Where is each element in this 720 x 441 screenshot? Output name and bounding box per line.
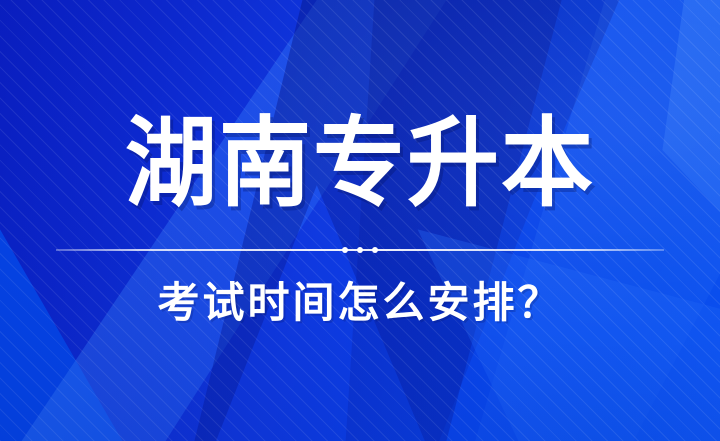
- divider-dot-icon: [372, 247, 378, 253]
- banner-headline: 湖南专升本: [125, 115, 595, 213]
- divider-dot-icon: [357, 247, 363, 253]
- banner-content: 湖南专升本 考试时间怎么安排？: [0, 0, 720, 441]
- divider-dot-icon: [342, 247, 348, 253]
- divider-dots: [333, 247, 387, 253]
- promo-banner: 湖南专升本 考试时间怎么安排？: [0, 0, 720, 441]
- banner-subheadline: 考试时间怎么安排？: [157, 282, 562, 324]
- divider: [56, 244, 664, 256]
